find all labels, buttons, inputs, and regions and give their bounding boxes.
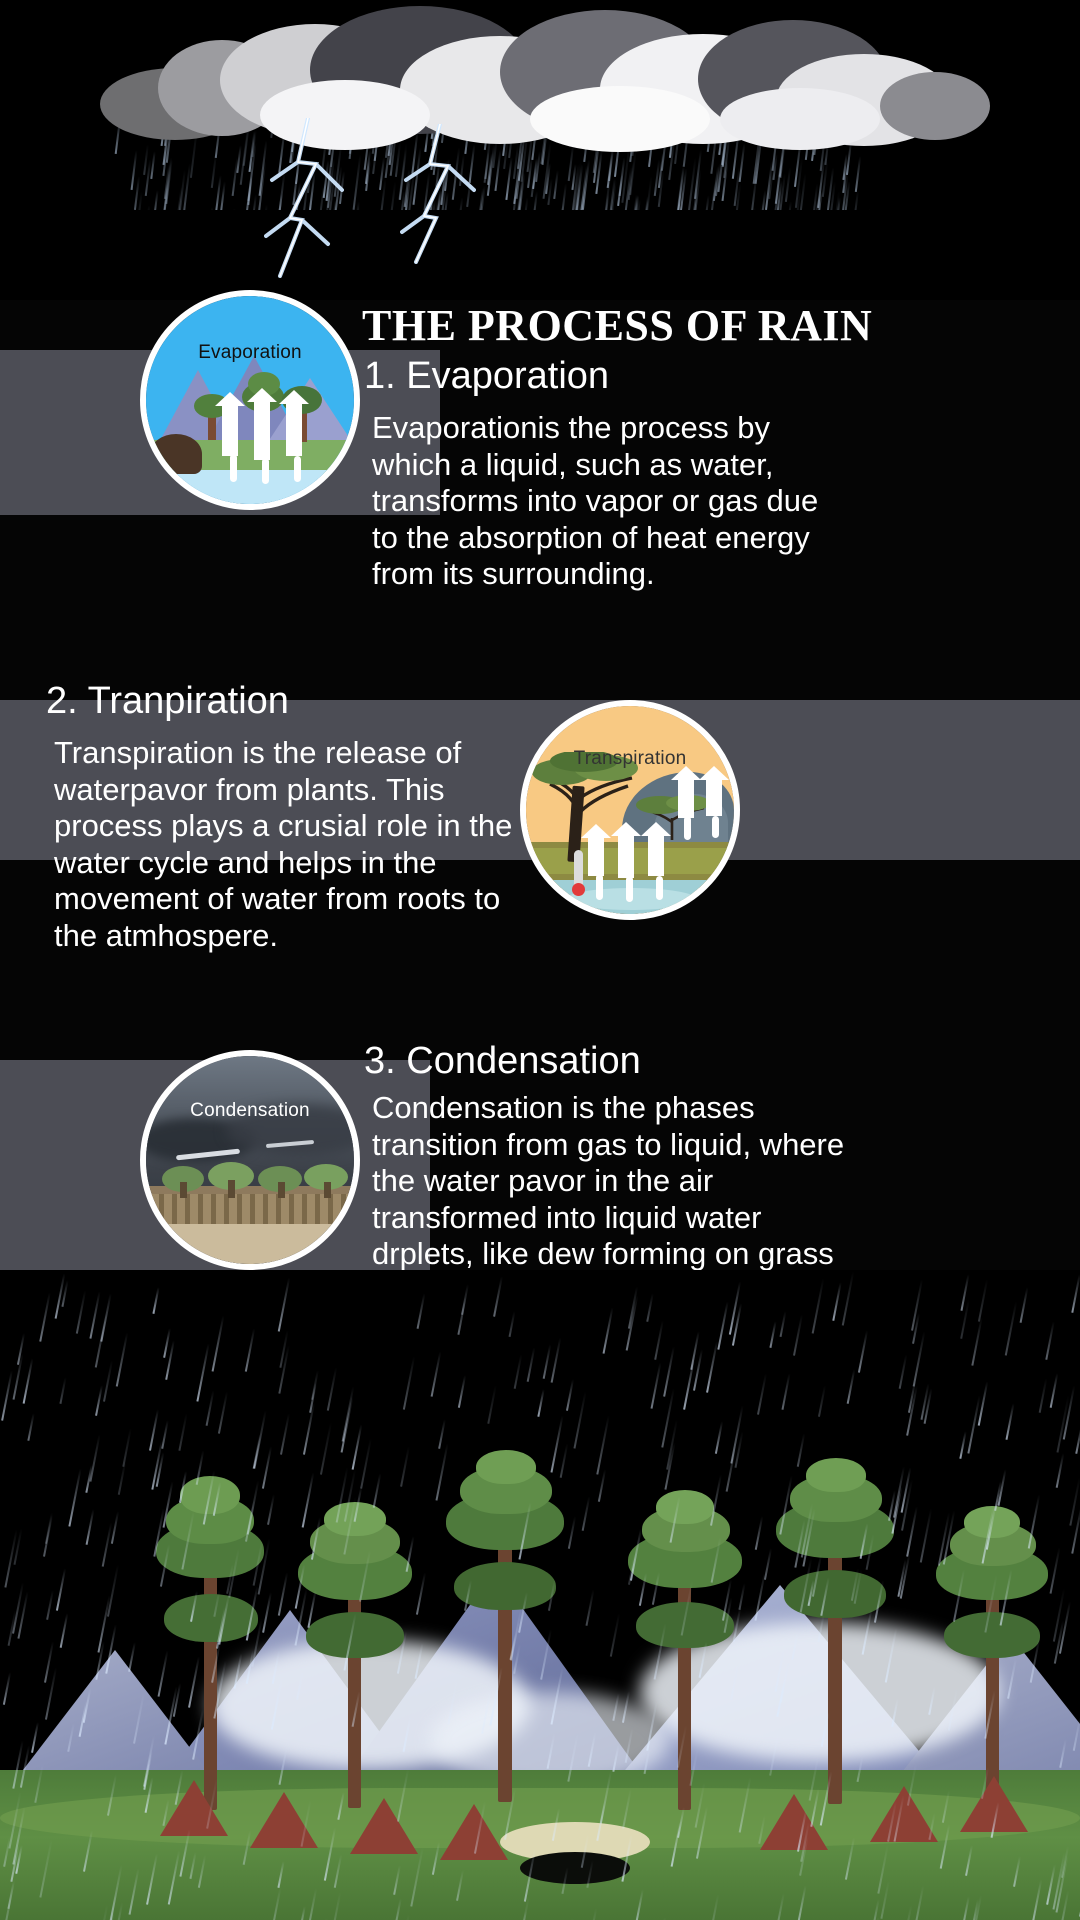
section-1-image-label: Evaporation <box>146 342 354 364</box>
footer-forest-scene <box>0 1270 1080 1920</box>
section-2-image: Transpiration <box>520 700 740 920</box>
page-title: THE PROCESS OF RAIN <box>362 300 872 351</box>
section-3-image: Condensation <box>140 1050 360 1270</box>
section-2-image-label: Transpiration <box>526 748 734 770</box>
section-2-heading: 2. Tranpiration <box>46 680 289 723</box>
lightning-bolt-left <box>250 118 370 278</box>
section-2-body: Transpiration is the release of waterpav… <box>54 735 514 954</box>
section-3-image-label: Condensation <box>146 1100 354 1122</box>
footer-rain-streaks <box>0 1270 1080 1920</box>
infographic-poster: THE PROCESS OF RAIN 1. Evaporation Evapo… <box>0 0 1080 1920</box>
lightning-bolt-right <box>390 124 500 264</box>
section-1-heading: 1. Evaporation <box>364 355 609 398</box>
storm-cloud-cluster <box>100 10 980 150</box>
section-1-body: Evaporationis the process by which a liq… <box>372 410 832 593</box>
hero-storm-scene <box>0 0 1080 300</box>
section-1-image: Evaporation <box>140 290 360 510</box>
section-3-heading: 3. Condensation <box>364 1040 641 1083</box>
